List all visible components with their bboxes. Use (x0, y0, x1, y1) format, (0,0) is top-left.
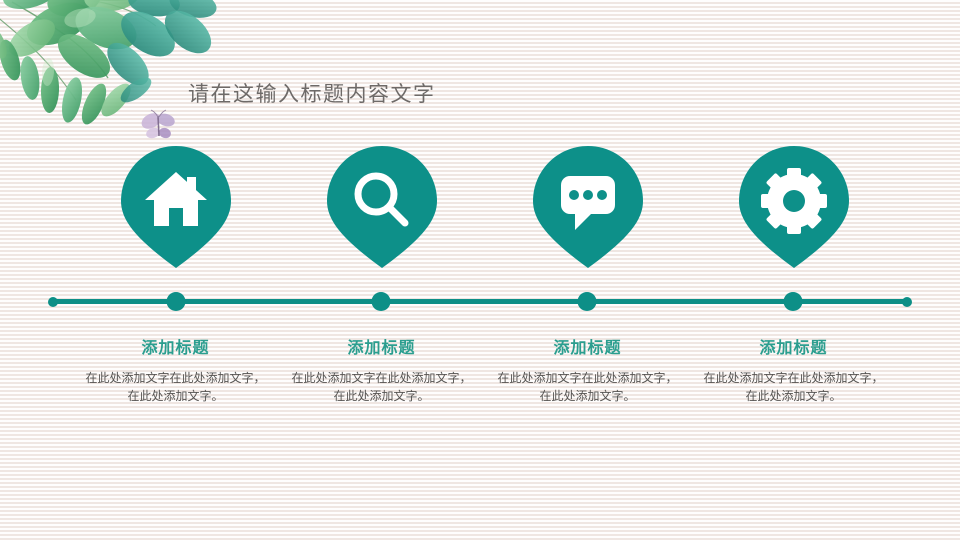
column-body-text: 在此处添加文字在此处添加文字，在此处添加文字。 (73, 369, 278, 405)
column-4[interactable]: 添加标题 在此处添加文字在此处添加文字，在此处添加文字。 (691, 146, 896, 405)
column-heading: 添加标题 (73, 338, 278, 360)
gear-icon (761, 168, 827, 234)
butterfly-icon (138, 108, 180, 148)
watercolor-leaves-icon (0, 0, 238, 147)
column-heading: 添加标题 (691, 338, 896, 360)
pin-marker-3[interactable] (533, 146, 643, 268)
column-1[interactable]: 添加标题 在此处添加文字在此处添加文字，在此处添加文字。 (73, 146, 278, 405)
slide-canvas: 请在这输入标题内容文字 添加标题 在此处添加文字在此处添加文字，在此处添加文字。 (0, 0, 960, 540)
pin-marker-2[interactable] (327, 146, 437, 268)
page-title: 请在这输入标题内容文字 (188, 81, 436, 109)
pin-marker-4[interactable] (739, 146, 849, 268)
timeline-end-cap-left (48, 297, 58, 307)
pin-marker-1[interactable] (121, 146, 231, 268)
column-3[interactable]: 添加标题 在此处添加文字在此处添加文字，在此处添加文字。 (485, 146, 690, 405)
column-body-text: 在此处添加文字在此处添加文字，在此处添加文字。 (279, 369, 484, 405)
column-heading: 添加标题 (279, 338, 484, 360)
column-body-text: 在此处添加文字在此处添加文字，在此处添加文字。 (691, 369, 896, 405)
column-2[interactable]: 添加标题 在此处添加文字在此处添加文字，在此处添加文字。 (279, 146, 484, 405)
column-body-text: 在此处添加文字在此处添加文字，在此处添加文字。 (485, 369, 690, 405)
column-heading: 添加标题 (485, 338, 690, 360)
timeline-end-cap-right (902, 297, 912, 307)
